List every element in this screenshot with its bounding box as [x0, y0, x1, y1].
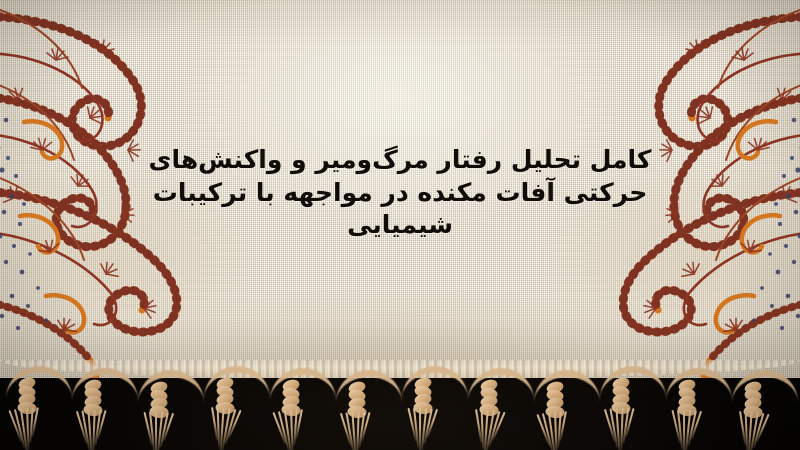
title-line-1: کامل تحلیل رفتار مرگ‌ومیر و واکنش‌های: [140, 144, 660, 177]
title-line-2: حرکتی آفات مکنده در مواجهه با ترکیبات: [140, 177, 660, 210]
title-text-block: کامل تحلیل رفتار مرگ‌ومیر و واکنش‌های حر…: [0, 144, 800, 242]
title-line-3: شیمیایی: [140, 209, 660, 242]
title-card-canvas: کامل تحلیل رفتار مرگ‌ومیر و واکنش‌های حر…: [0, 0, 800, 450]
